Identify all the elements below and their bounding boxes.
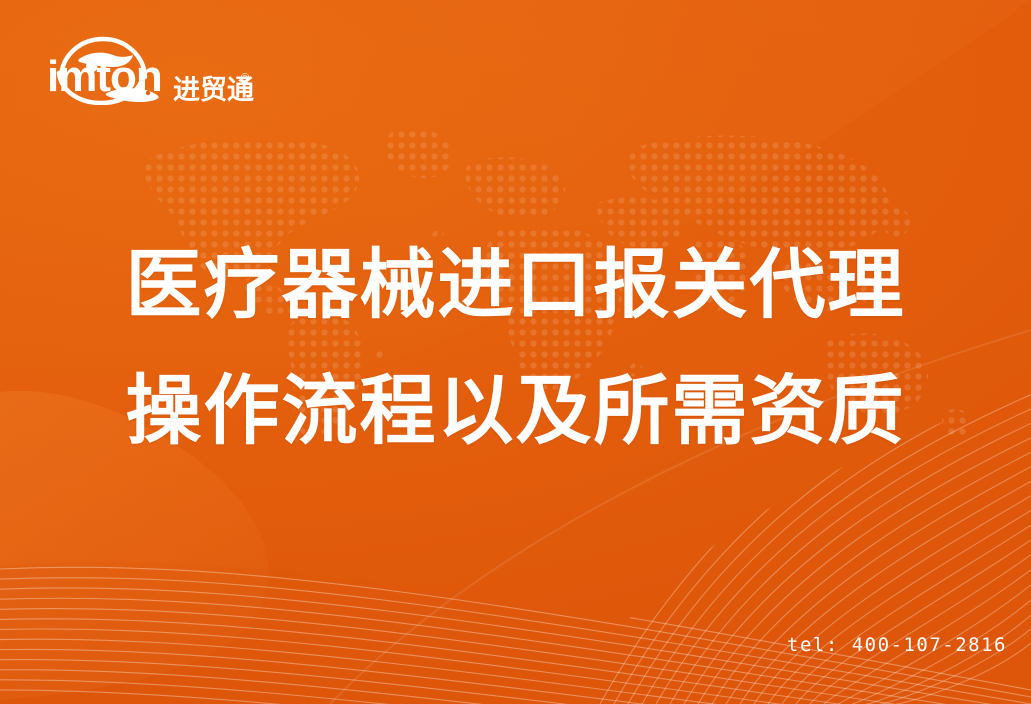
page-title-line-1: 医疗器械进口报关代理 — [0, 222, 1031, 348]
svg-text:imton: imton — [47, 52, 162, 101]
promo-banner: imton 进贸通 ® 医疗器械进口报关代理 操作流程以及所需资质 tel: 4… — [0, 0, 1031, 704]
registered-trademark-icon: ® — [241, 73, 249, 84]
page-title-line-2: 操作流程以及所需资质 — [0, 348, 1031, 474]
brand-logo[interactable]: imton 进贸通 ® — [45, 33, 225, 105]
logo-mark: imton 进贸通 ® — [45, 33, 217, 105]
page-title: 医疗器械进口报关代理 操作流程以及所需资质 — [0, 222, 1031, 474]
contact-telephone[interactable]: tel: 400-107-2816 — [787, 636, 1007, 655]
